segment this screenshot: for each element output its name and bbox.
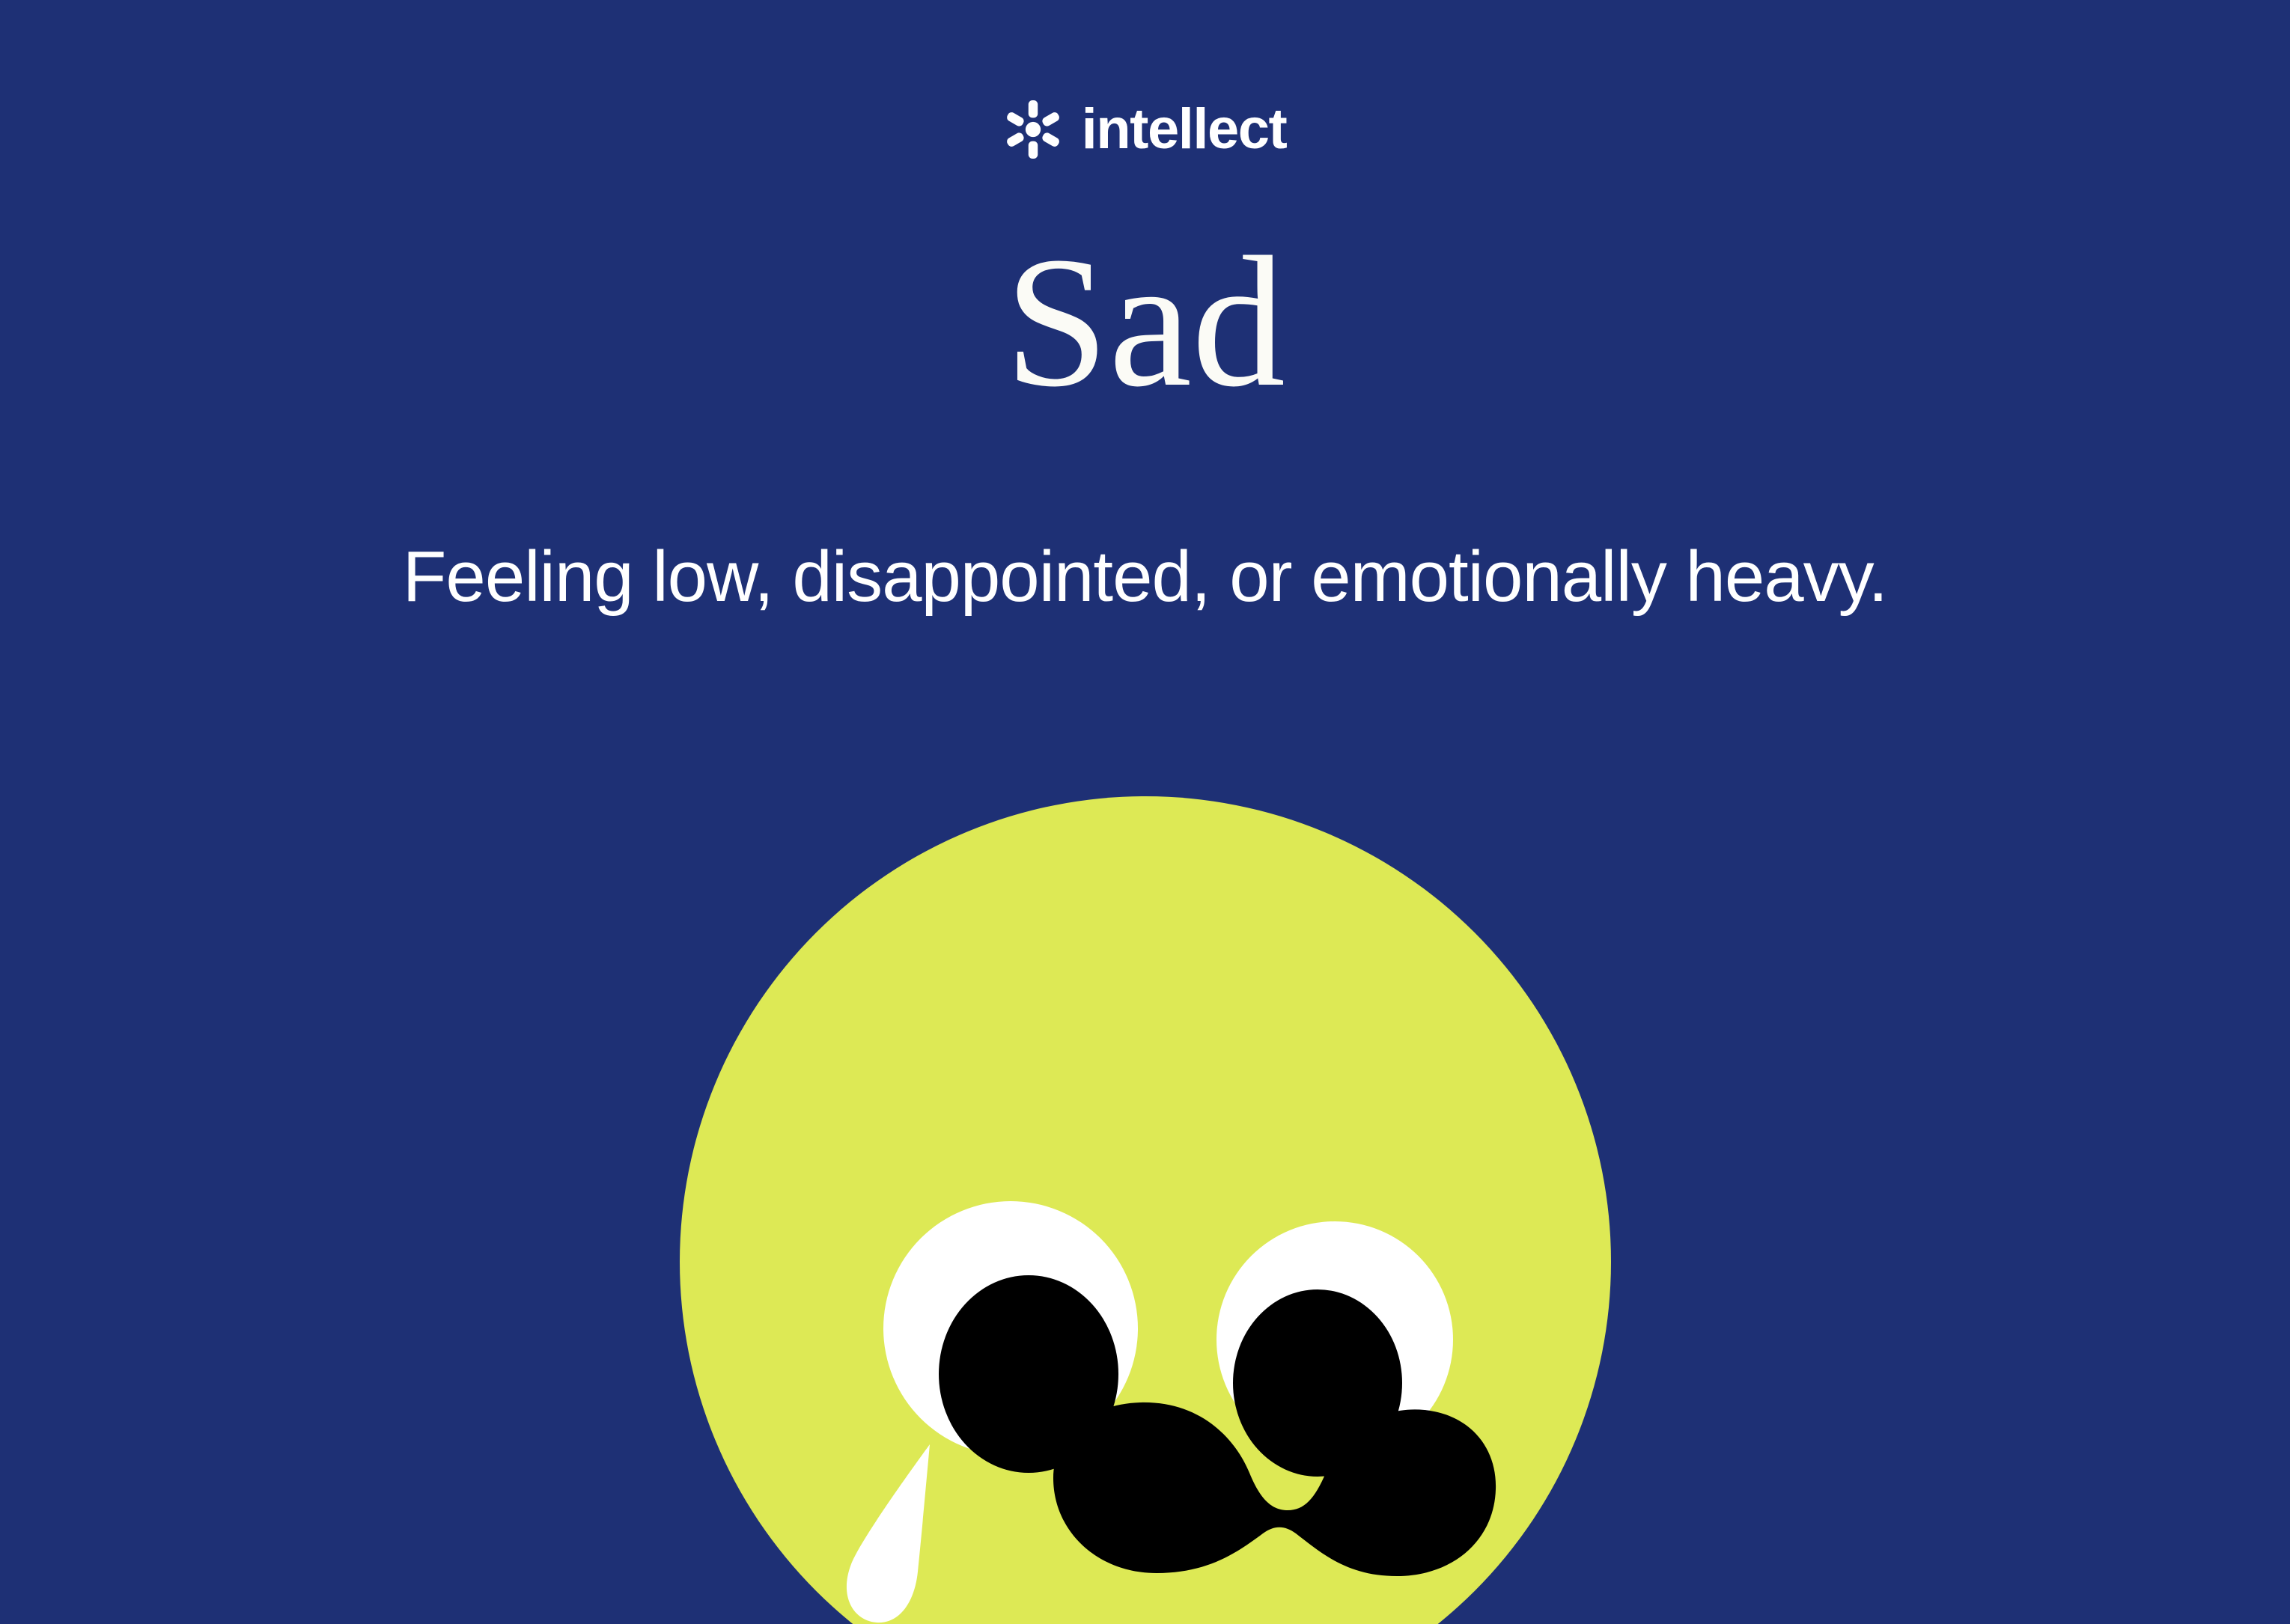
tear-drop	[847, 1444, 930, 1623]
face-circle	[680, 796, 1611, 1624]
left-pupil	[939, 1275, 1118, 1473]
right-pupil	[1233, 1289, 1402, 1477]
page-subtitle: Feeling low, disappointed, or emotionall…	[0, 536, 2290, 618]
frown-mouth	[1053, 1402, 1496, 1576]
right-eye	[1216, 1221, 1453, 1458]
left-eye	[883, 1201, 1138, 1456]
page-title: Sad	[0, 225, 2290, 421]
emotion-card-screen: intellect Sad Feeling low, disappointed,…	[0, 0, 2290, 1624]
brand-wordmark: intellect	[1082, 101, 1287, 158]
brand-lockup: intellect	[0, 88, 2290, 171]
intellect-starburst-icon	[1004, 100, 1062, 159]
